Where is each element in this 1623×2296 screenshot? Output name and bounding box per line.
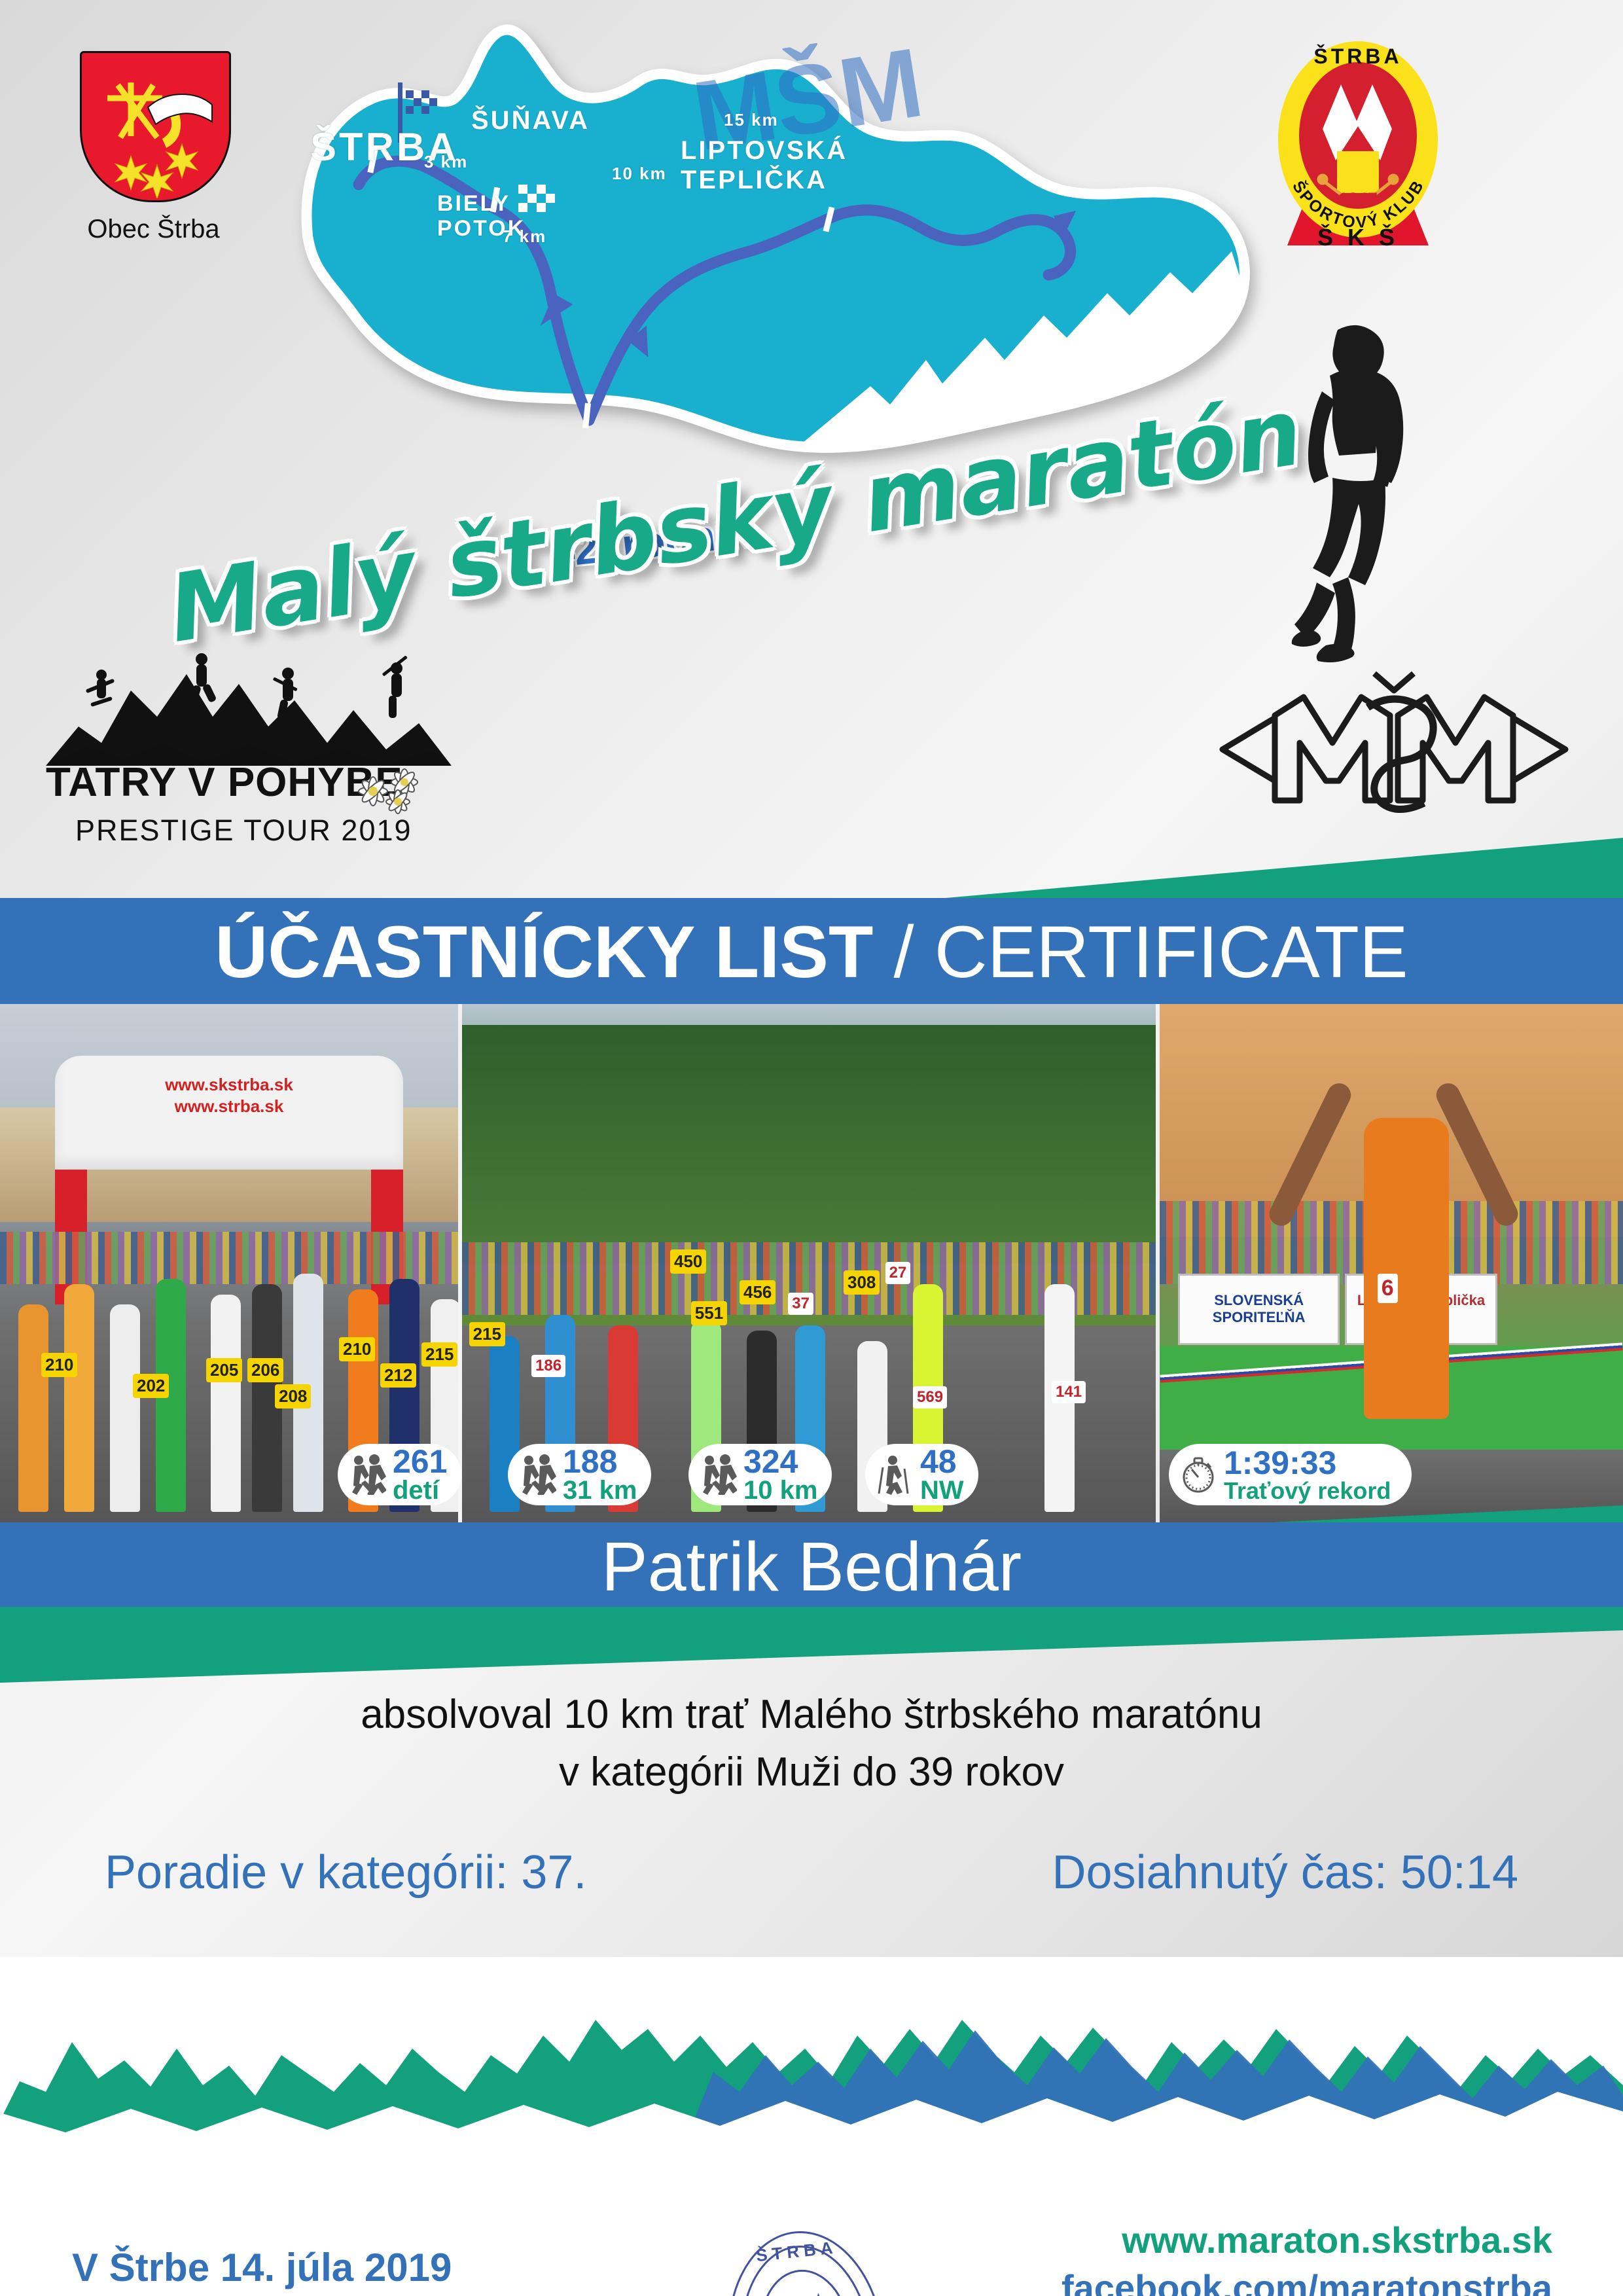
- arch-url-1: www.skstrba.sk: [55, 1074, 403, 1096]
- photo1-start-arch: www.skstrba.sk www.strba.sk: [55, 1056, 403, 1170]
- photo1-bib: 206: [247, 1358, 283, 1382]
- certificate-page: Obec Štrba MŠM: [0, 0, 1623, 2296]
- msm-logo: [1211, 645, 1577, 854]
- photo1-arch-urls: www.skstrba.sk www.strba.sk: [55, 1074, 403, 1117]
- certificate-title-sk: ÚČASTNÍCKY LIST: [215, 911, 873, 993]
- photo3-sponsor-board-1: SLOVENSKÁ SPORITEĽŇA: [1178, 1274, 1340, 1345]
- photo2-bib: 450: [670, 1249, 706, 1274]
- participant-name-band: Patrik Bednár: [0, 1522, 1623, 1611]
- svg-text:1947: 1947: [1338, 189, 1378, 209]
- photo3-bib: 6: [1378, 1274, 1398, 1303]
- stat-nw-label: NW: [920, 1478, 964, 1503]
- club-stamp-graphic: ŠTRBA 1947 ŠPORTOVÝ KLUB Š K Š: [695, 2225, 918, 2296]
- photo2-trees: [462, 1025, 1156, 1263]
- category-rank: Poradie v kategórii: 37.: [105, 1846, 586, 1899]
- stat-children-values: 261 detí: [393, 1446, 447, 1503]
- footer-section: V Štrbe 14. júla 2019 ŠTRBA 1947 ŠPORTOV…: [0, 1957, 1623, 2296]
- photo1-crowd: [0, 1232, 458, 1283]
- photo3-winner-figure: [1364, 1118, 1449, 1418]
- stat-badge-nordic-walking: 48 NW: [865, 1444, 978, 1505]
- green-wedge-below-name: [0, 1607, 1623, 1685]
- msm-logo-graphic: [1211, 645, 1577, 854]
- stat-10km-label: 10 km: [743, 1478, 817, 1503]
- facebook-link[interactable]: facebook.com/maratonstrba: [1061, 2267, 1552, 2296]
- sks-club-badge: ŠTRBA 1947 ŠPORTOVÝ KLUB Š K Š: [1260, 29, 1456, 245]
- nordic-walker-icon: [877, 1454, 914, 1495]
- svg-text:ŠTRBA: ŠTRBA: [1313, 45, 1402, 68]
- stat-badge-31km: 188 31 km: [508, 1444, 651, 1505]
- photo2-bib: 27: [885, 1262, 911, 1284]
- stat-badge-children: 261 detí: [338, 1444, 461, 1505]
- description-line-1: absolvoval 10 km trať Malého štrbského m…: [0, 1686, 1623, 1744]
- statistics-row: 261 detí 188 31 km: [0, 1444, 1623, 1512]
- photo2-bib: 141: [1052, 1381, 1086, 1403]
- stat-31km-values: 188 31 km: [563, 1446, 637, 1503]
- stat-record-label: Traťový rekord: [1224, 1479, 1391, 1502]
- tatry-v-pohybe-logo: TATRY V POHYBE PRESTIGE TOUR 2019: [39, 645, 458, 848]
- stat-nw-value: 48: [920, 1446, 964, 1478]
- certificate-title-separator: /: [873, 911, 934, 993]
- photo1-bib: 210: [41, 1353, 77, 1377]
- stat-children-label: detí: [393, 1478, 447, 1503]
- svg-text:Š K Š: Š K Š: [1317, 223, 1399, 251]
- description-line-2: v kategórii Muži do 39 rokov: [0, 1744, 1623, 1801]
- stopwatch-icon: [1181, 1454, 1217, 1495]
- website-link[interactable]: www.maraton.skstrba.sk: [1061, 2219, 1552, 2261]
- photo1-bib: 215: [421, 1342, 457, 1367]
- club-stamp: ŠTRBA 1947 ŠPORTOVÝ KLUB Š K Š: [695, 2225, 918, 2296]
- photo1-bib: 205: [206, 1358, 242, 1382]
- mountain-silhouette-decoration: [0, 1957, 1623, 2134]
- obec-strba-label: Obec Štrba: [54, 215, 253, 244]
- stat-10km-value: 324: [743, 1446, 817, 1478]
- runners-icon: [700, 1454, 737, 1495]
- obec-strba-coat-of-arms: Obec Štrba: [80, 51, 227, 221]
- achieved-time: Dosiahnutý čas: 50:14: [1052, 1846, 1518, 1899]
- photo2-bib: 186: [531, 1355, 565, 1377]
- photo2-bib: 456: [740, 1280, 776, 1304]
- footer-links: www.maraton.skstrba.sk facebook.com/mara…: [1061, 2219, 1552, 2296]
- stat-31km-value: 188: [563, 1446, 637, 1478]
- photo1-bib: 208: [275, 1384, 311, 1408]
- participant-name: Patrik Bednár: [0, 1528, 1623, 1607]
- stat-badge-course-record: 1:39:33 Traťový rekord: [1169, 1444, 1412, 1505]
- stat-record-values: 1:39:33 Traťový rekord: [1224, 1447, 1391, 1502]
- photo3-sponsor-text-1: SLOVENSKÁ SPORITEĽŇA: [1180, 1292, 1338, 1326]
- green-wedge-shape-3: [0, 1607, 1623, 1685]
- photo2-bib: 551: [691, 1301, 727, 1325]
- svg-text:ŠTRBA: ŠTRBA: [755, 2237, 838, 2265]
- stat-10km-values: 324 10 km: [743, 1446, 817, 1503]
- participant-description: absolvoval 10 km trať Malého štrbského m…: [0, 1686, 1623, 1801]
- sks-badge-graphic: ŠTRBA 1947 ŠPORTOVÝ KLUB Š K Š: [1260, 29, 1456, 252]
- photo1-bib: 212: [380, 1363, 416, 1388]
- stat-31km-label: 31 km: [563, 1478, 637, 1503]
- results-row: Poradie v kategórii: 37. Dosiahnutý čas:…: [0, 1846, 1623, 1924]
- runners-icon: [520, 1454, 556, 1495]
- certificate-title-en: CERTIFICATE: [935, 911, 1408, 993]
- map-marker-3km: 3 km: [424, 152, 468, 172]
- certificate-title: ÚČASTNÍCKY LIST / CERTIFICATE: [0, 910, 1623, 994]
- photo2-bib: 308: [844, 1270, 880, 1295]
- stat-badge-10km: 324 10 km: [688, 1444, 832, 1505]
- photo2-bib: 569: [913, 1386, 947, 1408]
- arch-url-2: www.strba.sk: [55, 1096, 403, 1117]
- stat-nw-values: 48 NW: [920, 1446, 964, 1503]
- photo1-bib: 210: [339, 1337, 375, 1361]
- runner-figure: [1270, 321, 1440, 668]
- map-marker-15km: 15 km: [724, 110, 779, 130]
- stat-record-value: 1:39:33: [1224, 1447, 1391, 1479]
- photo1-bib: 202: [133, 1374, 169, 1398]
- stat-children-value: 261: [393, 1446, 447, 1478]
- runners-icon: [349, 1454, 386, 1495]
- map-label-liptovska-teplicka: LIPTOVSKÁ TEPLIČKA: [681, 136, 877, 195]
- mountain-range-icon: [39, 645, 458, 776]
- runner-silhouette-icon: [1270, 321, 1440, 661]
- certificate-title-band: ÚČASTNÍCKY LIST / CERTIFICATE: [0, 898, 1623, 1004]
- photo2-bib: 215: [469, 1322, 505, 1346]
- map-marker-7km: 7 km: [503, 226, 546, 247]
- coat-of-arms-charges: [80, 51, 227, 198]
- photo2-bib: 37: [788, 1293, 813, 1315]
- place-and-date: V Štrbe 14. júla 2019: [72, 2245, 452, 2290]
- map-label-sunava: ŠUŇAVA: [471, 106, 590, 135]
- header-section: Obec Štrba MŠM: [0, 0, 1623, 910]
- map-marker-10km: 10 km: [612, 164, 667, 184]
- edelweiss-icon: [347, 762, 445, 815]
